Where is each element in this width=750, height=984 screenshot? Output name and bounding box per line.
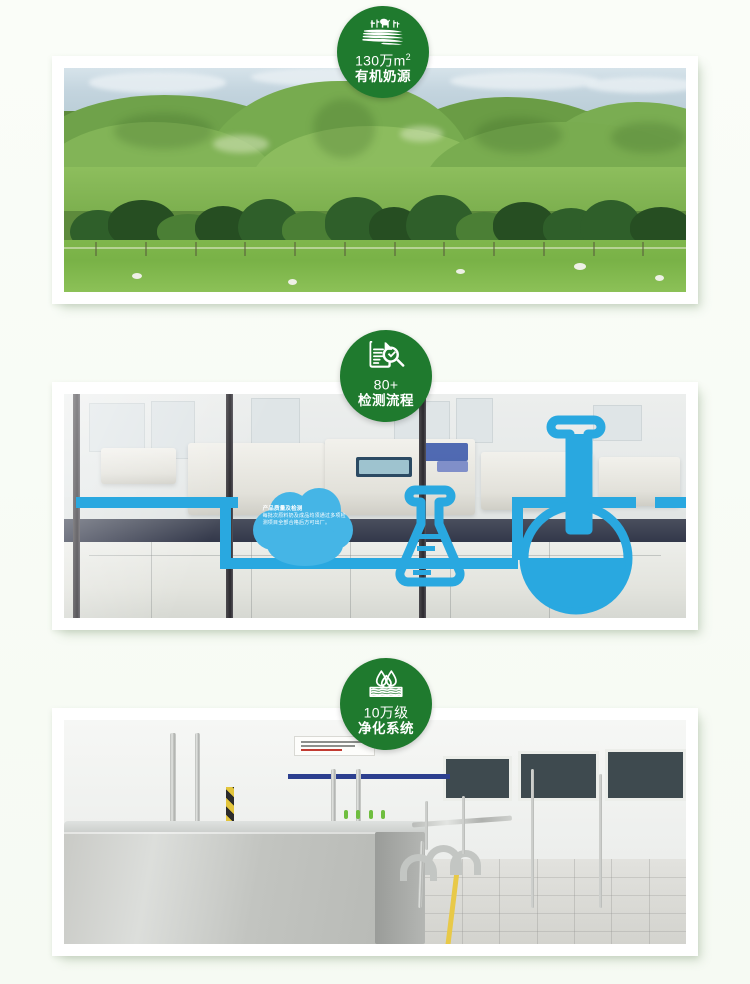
fence-post xyxy=(145,242,147,256)
tree-line xyxy=(64,180,686,247)
badge-label: 净化系统 xyxy=(358,721,414,737)
steel-pole xyxy=(531,769,534,908)
floor-tile-line xyxy=(425,877,686,878)
steel-pole xyxy=(599,774,602,908)
laboratory-photo: 产品质量及检测 每批次原料奶及成品均须通过多项检测项目全部合格后方可出厂。 xyxy=(64,394,686,618)
fence-post xyxy=(195,242,197,256)
badge-number: 10万级 xyxy=(364,701,409,721)
callout-text: 产品质量及检测 每批次原料奶及成品均须通过多项检测项目全部合格后方可出厂。 xyxy=(263,506,349,527)
sheep xyxy=(655,275,664,281)
badge-purification-system[interactable]: 10万级 净化系统 xyxy=(340,658,432,750)
fence-post xyxy=(493,242,495,256)
badge-number: 80+ xyxy=(374,373,399,393)
hill-highlight xyxy=(400,126,444,142)
badge-label: 有机奶源 xyxy=(355,69,411,85)
badge-label: 检测流程 xyxy=(358,393,414,409)
steel-pole xyxy=(331,769,336,827)
water-droplets-waves-icon xyxy=(364,669,408,699)
overlay-cloud-callout: 产品质量及检测 每批次原料奶及成品均须通过多项检测项目全部合格后方可出厂。 xyxy=(251,484,359,572)
hazard-stripe xyxy=(226,787,234,823)
sheep xyxy=(456,269,465,274)
fence-post xyxy=(394,242,396,256)
steel-pole xyxy=(170,733,176,827)
badge-testing-process[interactable]: 80+ 检测流程 xyxy=(340,330,432,422)
floor-tile-line xyxy=(425,913,686,914)
round-bottom-flask-icon xyxy=(518,410,636,618)
floor-tile-line xyxy=(425,895,686,896)
fence-post xyxy=(244,242,246,256)
stainless-tank xyxy=(64,832,412,944)
plant-window xyxy=(443,756,511,801)
hill-shadow xyxy=(611,122,686,153)
overlay-pipe-segment xyxy=(220,497,231,564)
fence-post xyxy=(543,242,545,256)
pipe xyxy=(425,801,428,850)
farm-field-icon xyxy=(361,17,405,47)
fence-post xyxy=(443,242,445,256)
lab-window xyxy=(456,398,493,443)
steel-pole xyxy=(356,769,361,827)
green-valve-cap xyxy=(369,810,373,819)
cloud xyxy=(89,72,226,92)
fence-post xyxy=(344,242,346,256)
badge-number: 130万m2 xyxy=(355,49,411,69)
hill-shadow xyxy=(313,99,375,157)
plant-window xyxy=(605,749,686,801)
green-valve-cap xyxy=(356,810,360,819)
tank-side-panel xyxy=(375,832,425,944)
blue-container xyxy=(437,461,468,472)
floor-tile-line xyxy=(425,931,686,932)
fence-post xyxy=(294,242,296,256)
document-magnifier-check-icon xyxy=(364,341,408,371)
fence-post xyxy=(95,242,97,256)
hill-shadow xyxy=(114,113,214,149)
pipe-bend xyxy=(400,854,437,881)
fence-post xyxy=(593,242,595,256)
steel-pole xyxy=(195,733,200,827)
pasture-photo xyxy=(64,68,686,292)
pipe xyxy=(462,796,465,854)
green-valve-cap xyxy=(344,810,348,819)
badge-superscript: 2 xyxy=(406,52,411,62)
promo-page: 130万m2 有机奶源 xyxy=(0,0,750,984)
pipe-bend xyxy=(450,850,481,875)
cloud xyxy=(586,77,686,93)
overlay-pipe-segment xyxy=(655,497,686,508)
purification-plant-photo xyxy=(64,720,686,944)
badge-organic-milk-source[interactable]: 130万m2 有机奶源 xyxy=(337,6,429,98)
hill-shadow xyxy=(475,117,562,153)
fence-post xyxy=(642,242,644,256)
blue-rail xyxy=(288,774,450,779)
green-valve-cap xyxy=(381,810,385,819)
sheep xyxy=(574,263,586,270)
erlenmeyer-flask-icon xyxy=(387,484,473,597)
overlay-pipe-segment xyxy=(76,497,238,508)
sheep xyxy=(132,273,142,279)
